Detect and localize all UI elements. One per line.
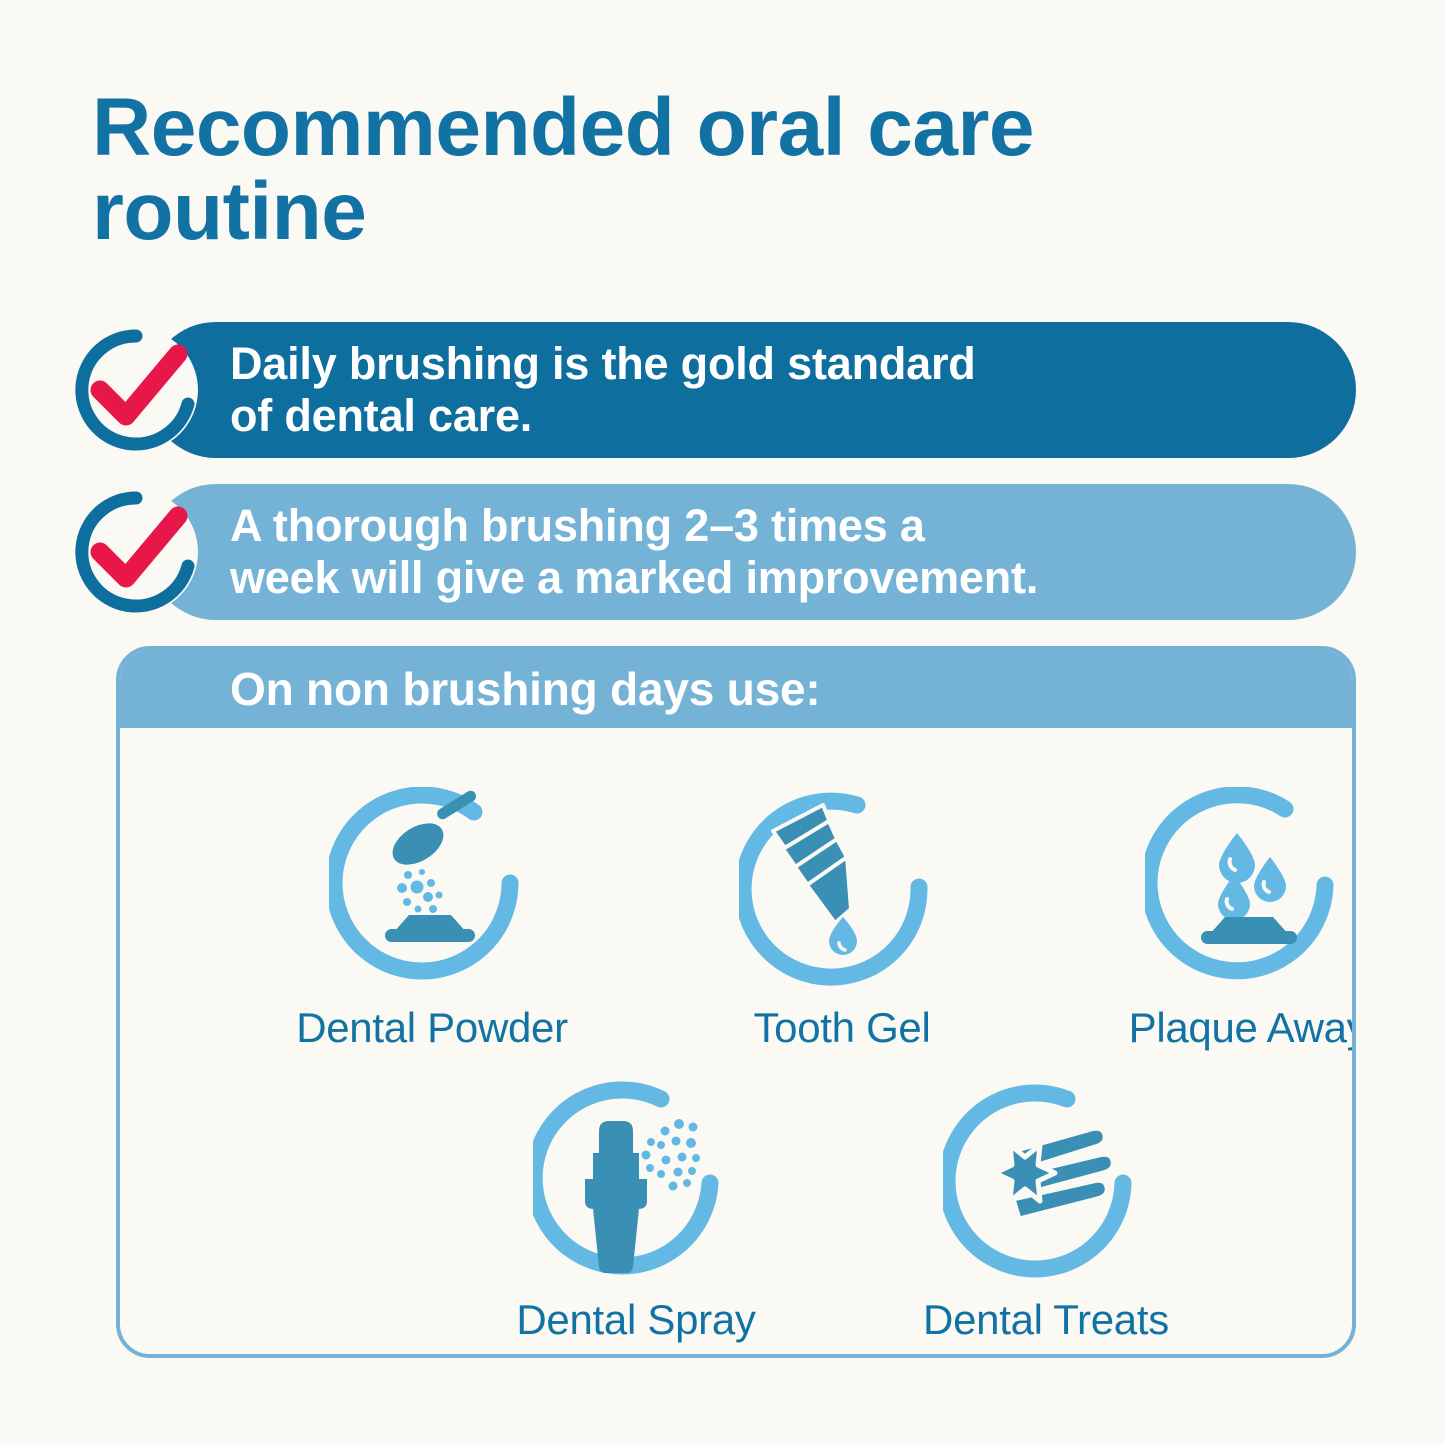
non-brushing-days-panel: On non brushing days use: (116, 646, 1356, 1358)
banner-thorough-brushing-text: A thorough brushing 2–3 times a week wil… (148, 500, 1064, 604)
product-label: Plaque Away (1098, 1004, 1356, 1052)
product-item-plaque-away[interactable]: Plaque Away (1098, 784, 1356, 1052)
product-label: Dental Powder (282, 1004, 582, 1052)
spray-bottle-mist-icon (486, 1076, 786, 1288)
banner-daily-brushing-text: Daily brushing is the gold standard of d… (148, 338, 1002, 442)
product-item-dental-spray[interactable]: Dental Spray (486, 1076, 786, 1344)
product-item-tooth-gel[interactable]: Tooth Gel (692, 784, 992, 1052)
product-grid: Dental Powder (120, 728, 1352, 1358)
infographic-page: Recommended oral care routine Daily brus… (0, 0, 1445, 1445)
check-circle-icon (70, 324, 202, 456)
product-item-dental-treats[interactable]: Dental Treats (896, 1076, 1196, 1344)
product-item-dental-powder[interactable]: Dental Powder (282, 784, 582, 1052)
gel-tube-drop-icon (692, 784, 992, 996)
product-label: Dental Spray (486, 1296, 786, 1344)
banner-thorough-brushing: A thorough brushing 2–3 times a week wil… (148, 484, 1356, 620)
panel-header: On non brushing days use: (120, 650, 1352, 728)
product-label: Tooth Gel (692, 1004, 992, 1052)
page-title: Recommended oral care routine (92, 86, 1292, 253)
dental-chew-sticks-icon (896, 1076, 1196, 1288)
banner-daily-brushing: Daily brushing is the gold standard of d… (148, 322, 1356, 458)
water-drops-bowl-icon (1098, 784, 1356, 996)
spoon-powder-bowl-icon (282, 784, 582, 996)
check-circle-icon (70, 486, 202, 618)
panel-header-text: On non brushing days use: (120, 662, 821, 716)
product-label: Dental Treats (896, 1296, 1196, 1344)
